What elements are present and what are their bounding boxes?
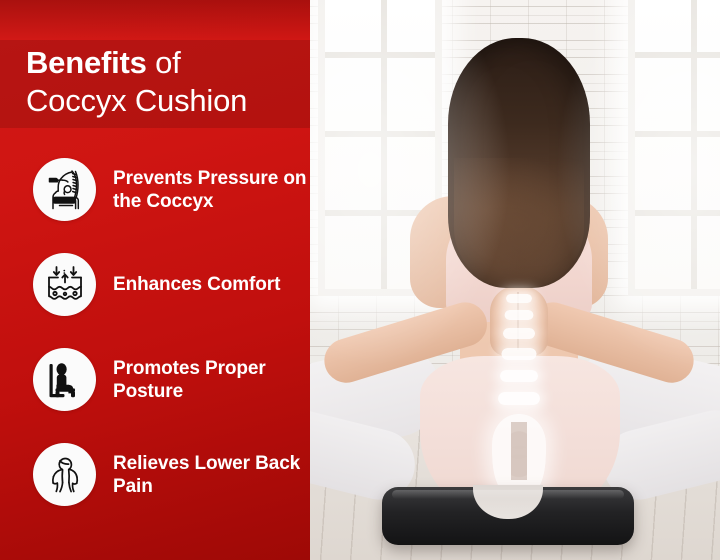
person-holding-lower-back-icon <box>33 443 96 506</box>
benefits-list: Prevents Pressure on the Coccyx <box>0 142 310 522</box>
benefit-item: Prevents Pressure on the Coccyx <box>0 142 310 237</box>
panel-top-shade <box>0 0 310 40</box>
title-strong: Benefits <box>26 45 147 80</box>
upright-seated-posture-icon <box>33 348 96 411</box>
sacrum-overlay <box>492 414 546 496</box>
coccyx-cushion-product <box>382 487 634 545</box>
benefit-label: Prevents Pressure on the Coccyx <box>113 167 309 213</box>
benefit-label: Relieves Lower Back Pain <box>113 452 309 498</box>
hair <box>448 38 590 288</box>
benefit-item: Enhances Comfort <box>0 237 310 332</box>
page-title: Benefits of Coccyx Cushion <box>26 44 304 120</box>
benefit-label: Enhances Comfort <box>113 273 280 296</box>
benefit-label: Promotes Proper Posture <box>113 357 309 403</box>
title-line2: Coccyx Cushion <box>26 83 247 118</box>
benefits-banner: Benefits of Coccyx Cushion <box>0 0 720 560</box>
cushion-highlight <box>392 490 624 499</box>
title-rest: of <box>147 45 181 80</box>
pressure-arrows-on-foam-icon <box>33 253 96 316</box>
benefit-item: Relieves Lower Back Pain <box>0 427 310 522</box>
spine-overlay <box>486 294 552 506</box>
benefit-item: Promotes Proper Posture <box>0 332 310 427</box>
person-sitting-on-chair-with-cushion-icon <box>33 158 96 221</box>
seated-woman-figure <box>300 0 720 560</box>
benefits-panel: Benefits of Coccyx Cushion <box>0 0 310 560</box>
